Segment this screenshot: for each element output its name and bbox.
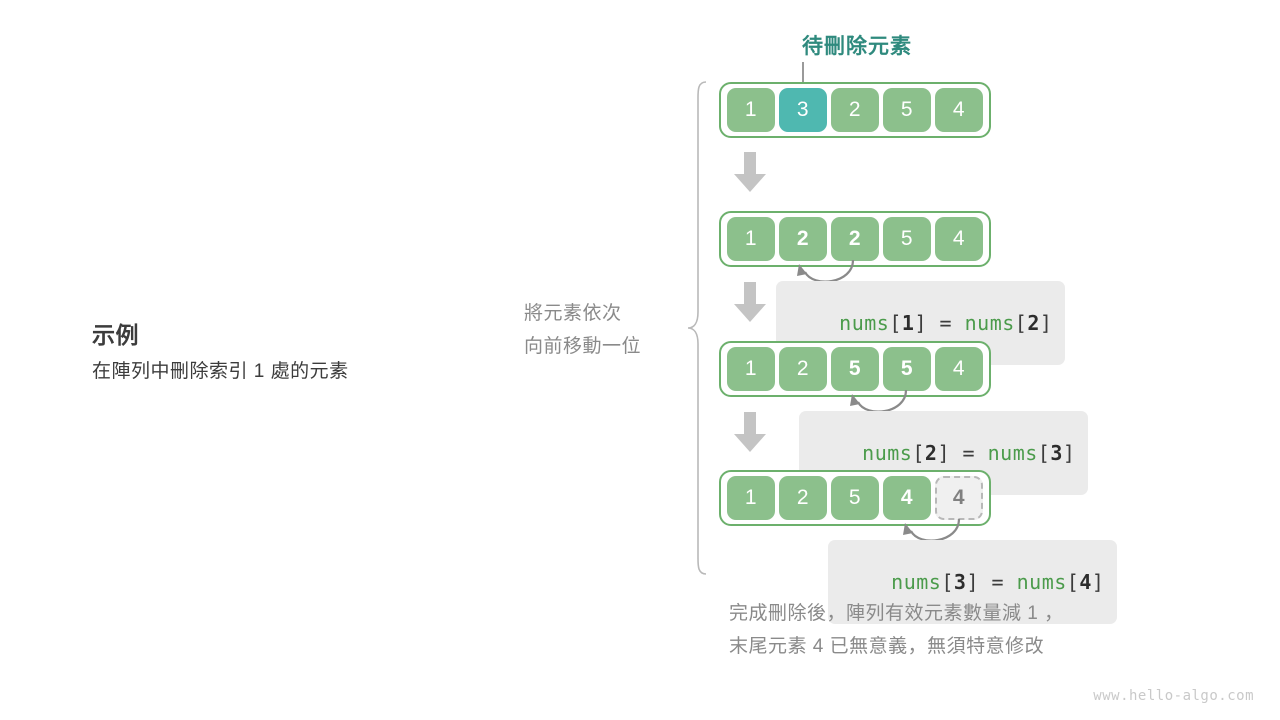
code-bracket: [ xyxy=(1015,311,1028,335)
down-arrow-icon xyxy=(732,282,768,324)
code-bracket: [ xyxy=(941,570,954,594)
array-cell[interactable]: 2 xyxy=(831,217,879,261)
array-cell[interactable]: 1 xyxy=(727,217,775,261)
code-bracket: ] xyxy=(1092,570,1105,594)
code-bracket: ] xyxy=(937,441,950,465)
code-rhs-name: nums xyxy=(988,441,1038,465)
left-caption: 示例 在陣列中刪除索引 1 處的元素 xyxy=(92,320,512,387)
array-cell[interactable]: 2 xyxy=(779,217,827,261)
page-title: 示例 xyxy=(92,320,512,351)
array-cell[interactable]: 1 xyxy=(727,88,775,132)
code-rhs-index: 4 xyxy=(1079,570,1092,594)
code-bracket: ] xyxy=(966,570,979,594)
shift-annotation: 將元素依次 向前移動一位 xyxy=(524,297,684,364)
array-cell[interactable]: 5 xyxy=(883,347,931,391)
array-cell[interactable]: 4 xyxy=(883,476,931,520)
diagram-canvas: 示例 在陣列中刪除索引 1 處的元素 將元素依次 向前移動一位 待刪除元素 1 … xyxy=(0,0,1280,720)
watermark: www.hello-algo.com xyxy=(1093,688,1254,704)
array-cell-obsolete[interactable]: 4 xyxy=(935,476,983,520)
array-cell[interactable]: 4 xyxy=(935,217,983,261)
array-cell[interactable]: 4 xyxy=(935,347,983,391)
headline-label: 待刪除元素 xyxy=(722,30,992,60)
bottom-note-line2: 末尾元素 4 已無意義，無須特意修改 xyxy=(729,630,1064,663)
array-cell[interactable]: 1 xyxy=(727,347,775,391)
code-equals: = xyxy=(979,570,1017,594)
bottom-note: 完成刪除後，陣列有效元素數量減 1 ， 末尾元素 4 已無意義，無須特意修改 xyxy=(729,597,1064,664)
array-cell[interactable]: 2 xyxy=(831,88,879,132)
code-lhs-name: nums xyxy=(839,311,889,335)
code-lhs-index: 2 xyxy=(925,441,938,465)
code-lhs-index: 3 xyxy=(954,570,967,594)
shift-annotation-line1: 將元素依次 xyxy=(524,297,684,330)
code-bracket: [ xyxy=(1067,570,1080,594)
array-cell[interactable]: 5 xyxy=(831,347,879,391)
code-equals: = xyxy=(927,311,965,335)
array-cell[interactable]: 5 xyxy=(883,217,931,261)
array-cell-highlighted[interactable]: 3 xyxy=(779,88,827,132)
code-rhs-name: nums xyxy=(1017,570,1067,594)
code-bracket: [ xyxy=(912,441,925,465)
shift-annotation-line2: 向前移動一位 xyxy=(524,330,684,363)
code-bracket: ] xyxy=(1040,311,1053,335)
code-bracket: [ xyxy=(889,311,902,335)
code-lhs-index: 1 xyxy=(902,311,915,335)
code-rhs-name: nums xyxy=(965,311,1015,335)
array-cell[interactable]: 5 xyxy=(883,88,931,132)
page-subtitle: 在陣列中刪除索引 1 處的元素 xyxy=(92,357,512,387)
code-rhs-index: 2 xyxy=(1027,311,1040,335)
code-bracket: [ xyxy=(1038,441,1051,465)
code-bracket: ] xyxy=(1063,441,1076,465)
code-lhs-name: nums xyxy=(862,441,912,465)
array-cell[interactable]: 5 xyxy=(831,476,879,520)
down-arrow-icon xyxy=(732,412,768,454)
array-cell[interactable]: 1 xyxy=(727,476,775,520)
code-equals: = xyxy=(950,441,988,465)
grouping-brace xyxy=(686,80,710,576)
code-rhs-index: 3 xyxy=(1050,441,1063,465)
down-arrow-icon xyxy=(732,152,768,194)
bottom-note-line1: 完成刪除後，陣列有效元素數量減 1 ， xyxy=(729,597,1064,630)
array-row-0: 1 3 2 5 4 xyxy=(719,82,991,138)
array-cell[interactable]: 4 xyxy=(935,88,983,132)
code-bracket: ] xyxy=(914,311,927,335)
array-cell[interactable]: 2 xyxy=(779,476,827,520)
code-lhs-name: nums xyxy=(891,570,941,594)
array-cell[interactable]: 2 xyxy=(779,347,827,391)
